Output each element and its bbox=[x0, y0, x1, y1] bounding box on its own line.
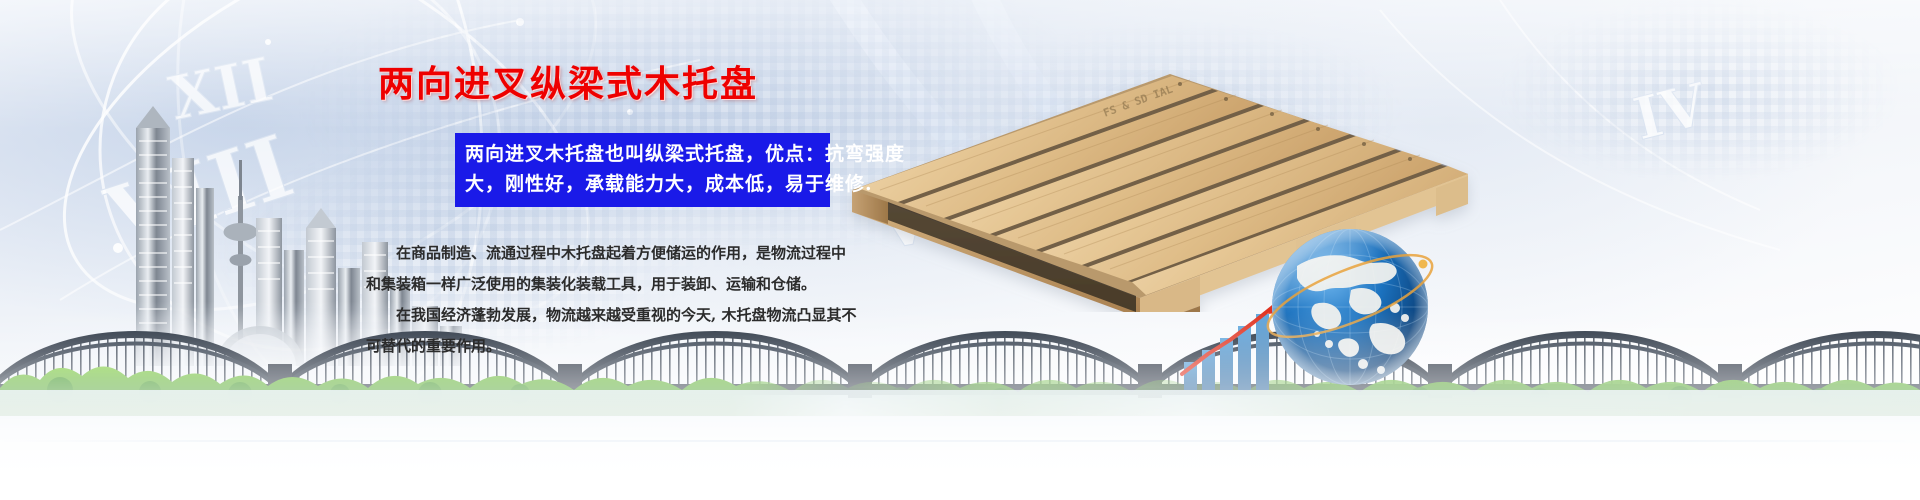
paragraph-line-3: 在我国经济蓬勃发展，物流越来越受重视的今天, 木托盘物流凸显其不 bbox=[366, 300, 866, 331]
water-horizon-line bbox=[0, 440, 1920, 442]
highlight-callout-box: 两向进叉木托盘也叫纵梁式托盘，优点：抗弯强度 大，刚性好，承载能力大，成本低，易… bbox=[455, 133, 830, 207]
highlight-line-2: 大，刚性好，承载能力大，成本低，易于维修. bbox=[465, 169, 820, 199]
paragraph-line-2: 和集装箱一样广泛使用的集装化装载工具，用于装卸、运输和仓储。 bbox=[366, 269, 866, 300]
earth-globe-icon bbox=[1255, 212, 1445, 402]
banner-canvas: VIII XII VII IV bbox=[0, 0, 1920, 500]
svg-text:IV: IV bbox=[1627, 70, 1714, 154]
page-title: 两向进叉纵梁式木托盘 bbox=[378, 55, 758, 107]
water-reflection bbox=[0, 390, 1920, 500]
paragraph-line-1: 在商品制造、流通过程中木托盘起着方便储运的作用，是物流过程中 bbox=[366, 238, 866, 269]
description-paragraph: 在商品制造、流通过程中木托盘起着方便储运的作用，是物流过程中 和集装箱一样广泛使… bbox=[366, 238, 866, 362]
paragraph-line-4: 可替代的重要作用。 bbox=[366, 331, 866, 362]
highlight-line-1: 两向进叉木托盘也叫纵梁式托盘，优点：抗弯强度 bbox=[465, 139, 820, 169]
